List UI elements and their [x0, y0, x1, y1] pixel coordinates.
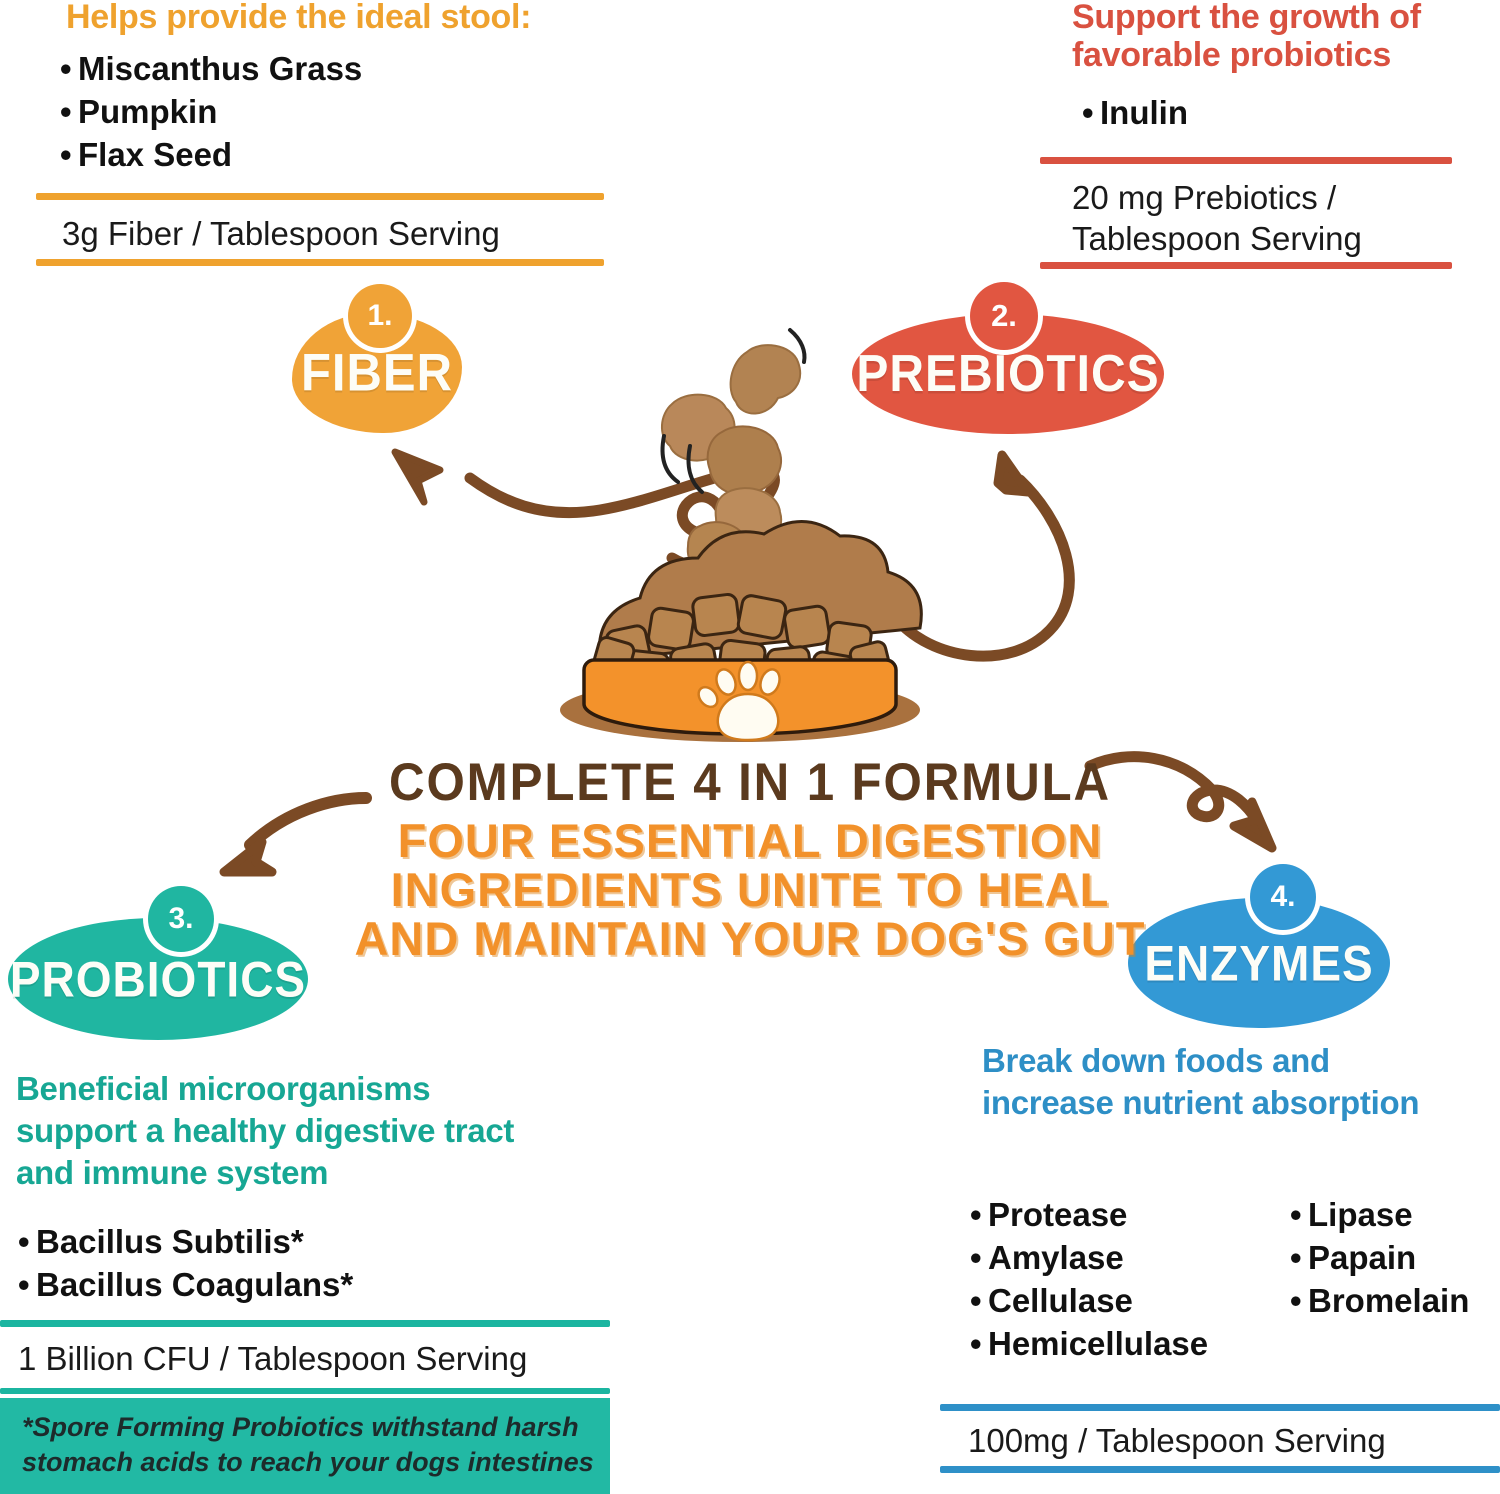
prebiotics-divider-bottom [1040, 262, 1452, 269]
bullet-icon: • [970, 1237, 988, 1280]
list-item: •Cellulase [970, 1280, 1290, 1323]
arrow-to-prebiotics-icon [896, 480, 1069, 656]
prebiotics-divider-top [1040, 157, 1452, 164]
probiotics-heading: Beneficial microorganisms support a heal… [16, 1068, 556, 1195]
list-item: •Bacillus Coagulans* [18, 1264, 353, 1307]
page-subtitle-line-3: AND MAINTAIN YOUR DOG'S GUT [330, 915, 1170, 964]
arrow-to-prebiotics-head-icon [998, 455, 1028, 492]
bullet-icon: • [18, 1264, 36, 1307]
badge-prebiotics[interactable]: PREBIOTICS 2. [852, 288, 1164, 436]
bullet-icon: • [60, 134, 78, 177]
bullet-icon: • [970, 1280, 988, 1323]
probiotics-ingredient-list: •Bacillus Subtilis* •Bacillus Coagulans* [18, 1221, 353, 1307]
enzymes-divider-top [940, 1404, 1500, 1411]
list-item: •Miscanthus Grass [60, 48, 362, 91]
probiotics-serving-text: 1 Billion CFU / Tablespoon Serving [18, 1338, 618, 1379]
bullet-icon: • [1082, 92, 1100, 135]
list-item: •Protease [970, 1194, 1290, 1237]
badge-prebiotics-label: PREBIOTICS [856, 344, 1159, 403]
probiotics-divider-top [0, 1320, 610, 1327]
page-title: COMPLETE 4 IN 1 FORMULA [359, 752, 1140, 813]
probiotics-divider-bottom [0, 1388, 610, 1394]
list-item: •Flax Seed [60, 134, 362, 177]
probiotics-footnote-banner: *Spore Forming Probiotics withstand hars… [0, 1398, 610, 1494]
center-title-block: COMPLETE 4 IN 1 FORMULA FOUR ESSENTIAL D… [330, 752, 1170, 964]
bullet-icon: • [970, 1323, 988, 1366]
badge-fiber-label: FIBER [301, 343, 453, 403]
prebiotics-ingredient-list: •Inulin [1082, 92, 1188, 135]
badge-fiber-number: 1. [348, 284, 412, 348]
enzymes-heading: Break down foods and increase nutrient a… [982, 1040, 1452, 1124]
list-item: •Papain [1290, 1237, 1495, 1280]
page-subtitle-line-1: FOUR ESSENTIAL DIGESTION [330, 817, 1170, 866]
enzymes-serving-text: 100mg / Tablespoon Serving [968, 1420, 1500, 1461]
list-item: •Lipase [1290, 1194, 1495, 1237]
list-item: •Hemicellulase [970, 1323, 1290, 1366]
list-item: •Amylase [970, 1237, 1290, 1280]
enzymes-ingredient-list: •Protease •Amylase •Cellulase •Hemicellu… [970, 1194, 1500, 1366]
list-item: •Inulin [1082, 92, 1188, 135]
list-item: •Pumpkin [60, 91, 362, 134]
bullet-icon: • [970, 1194, 988, 1237]
probiotics-footnote-text: *Spore Forming Probiotics withstand hars… [0, 1398, 610, 1494]
bullet-icon: • [1290, 1280, 1308, 1323]
kibble-pieces-icon [662, 330, 805, 596]
prebiotics-serving-text: 20 mg Prebiotics / Tablespoon Serving [1072, 177, 1492, 260]
list-item: •Bromelain [1290, 1280, 1495, 1323]
fiber-ingredient-list: •Miscanthus Grass •Pumpkin •Flax Seed [60, 48, 362, 177]
arrow-to-probiotics-head-icon [224, 842, 272, 872]
enzymes-column-2: •Lipase •Papain •Bromelain [1290, 1194, 1495, 1323]
bullet-icon: • [18, 1221, 36, 1264]
fiber-divider-top [36, 193, 604, 200]
enzymes-column-1: •Protease •Amylase •Cellulase •Hemicellu… [970, 1194, 1290, 1366]
bullet-icon: • [1290, 1237, 1308, 1280]
bullet-icon: • [1290, 1194, 1308, 1237]
bullet-icon: • [60, 91, 78, 134]
fiber-serving-text: 3g Fiber / Tablespoon Serving [62, 213, 662, 254]
fiber-heading: Helps provide the ideal stool: [66, 0, 626, 36]
badge-probiotics[interactable]: PROBIOTICS 3. [8, 890, 308, 1040]
page-subtitle: FOUR ESSENTIAL DIGESTION INGREDIENTS UNI… [330, 817, 1170, 964]
paw-print-icon [695, 662, 783, 740]
badge-probiotics-number: 3. [148, 886, 214, 952]
fiber-divider-bottom [36, 259, 604, 266]
list-item: •Bacillus Subtilis* [18, 1221, 353, 1264]
page-subtitle-line-2: INGREDIENTS UNITE TO HEAL [330, 866, 1170, 915]
arrow-to-fiber-head-icon [395, 452, 440, 502]
dog-food-bowl-icon [560, 521, 921, 742]
prebiotics-heading: Support the growth of favorable probioti… [1072, 0, 1500, 74]
bullet-icon: • [60, 48, 78, 91]
badge-enzymes-label: ENZYMES [1144, 934, 1373, 992]
badge-fiber[interactable]: FIBER 1. [292, 288, 462, 433]
arrow-to-fiber-icon [470, 470, 774, 565]
badge-enzymes-number: 4. [1250, 864, 1316, 930]
badge-probiotics-label: PROBIOTICS [10, 950, 306, 1008]
arrow-to-enzymes-head-icon [1234, 802, 1272, 848]
badge-prebiotics-number: 2. [970, 282, 1038, 350]
